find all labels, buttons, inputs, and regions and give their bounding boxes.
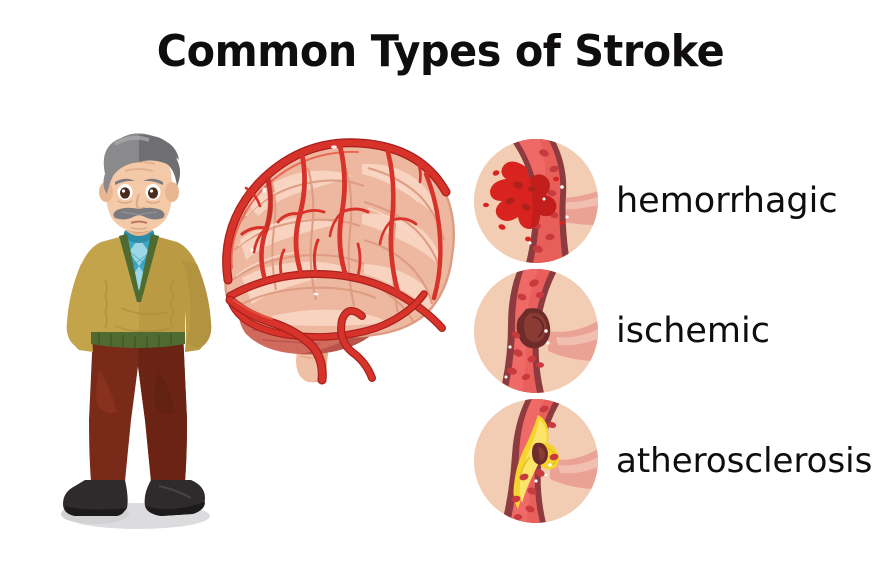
stroke-infographic: Common Types of Stroke (0, 0, 881, 562)
stroke-type-label-ischemic: ischemic (616, 314, 770, 349)
stroke-type-label-atherosclerosis: atherosclerosis (616, 444, 872, 478)
hemorrhagic-vessel-icon (474, 139, 598, 263)
elderly-man-illustration (35, 120, 235, 540)
ischemic-clot-vessel-icon (474, 269, 598, 393)
stroke-type-atherosclerosis: atherosclerosis (474, 398, 879, 524)
brain-with-arteries-illustration (212, 128, 460, 390)
stroke-type-hemorrhagic: hemorrhagic (474, 138, 879, 264)
page-title: Common Types of Stroke (26, 26, 854, 77)
stroke-type-ischemic: ischemic (474, 268, 879, 394)
stroke-type-label-hemorrhagic: hemorrhagic (616, 184, 838, 219)
atherosclerosis-plaque-vessel-icon (474, 399, 598, 523)
